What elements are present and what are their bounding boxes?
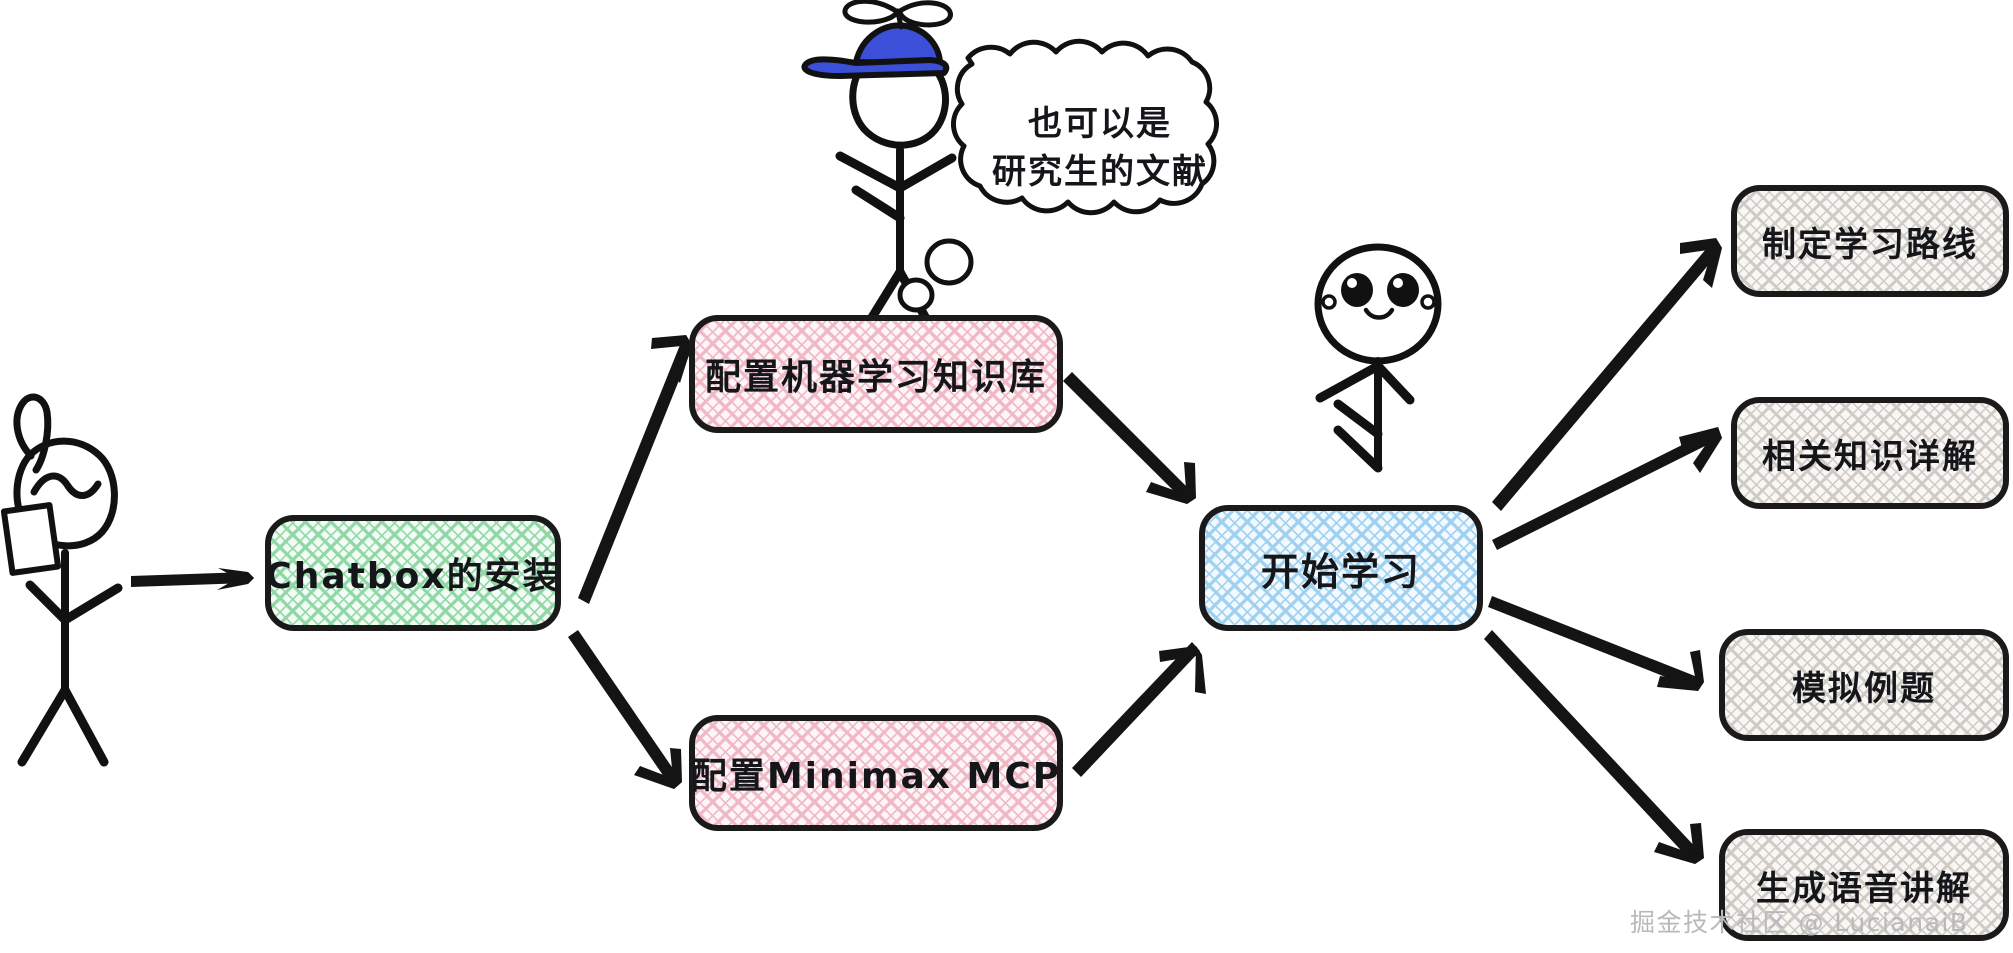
edge-person-to-chatbox [131,568,254,590]
stick-figure-happy [1318,247,1438,468]
node-related-knowledge-detail[interactable] [1734,400,2006,506]
stick-figure-with-phone [4,397,118,762]
diagram-svg [0,0,2013,953]
edge-study-to-route [1492,238,1722,511]
edge-study-to-knowledge [1492,427,1722,550]
diagram-nodes [268,188,2006,938]
edge-kb-to-study [1063,372,1196,504]
node-config-ml-knowledge-base[interactable] [692,318,1060,430]
edge-mcp-to-study [1072,642,1206,777]
node-chatbox-install[interactable] [268,518,558,628]
node-mock-example-problems[interactable] [1722,632,2006,738]
edge-chatbox-to-mcp [568,630,682,789]
node-config-minimax-mcp[interactable] [692,718,1060,828]
node-start-learning[interactable] [1202,508,1480,628]
thought-bubble [900,41,1217,310]
edge-study-to-voice [1484,630,1704,864]
node-generate-voice-explanation[interactable] [1722,832,2006,938]
edge-chatbox-to-kb [578,335,692,604]
diagram-canvas: Chatbox的安装 配置机器学习知识库 配置Minimax MCP 开始学习 … [0,0,2013,953]
node-make-study-route[interactable] [1734,188,2006,294]
